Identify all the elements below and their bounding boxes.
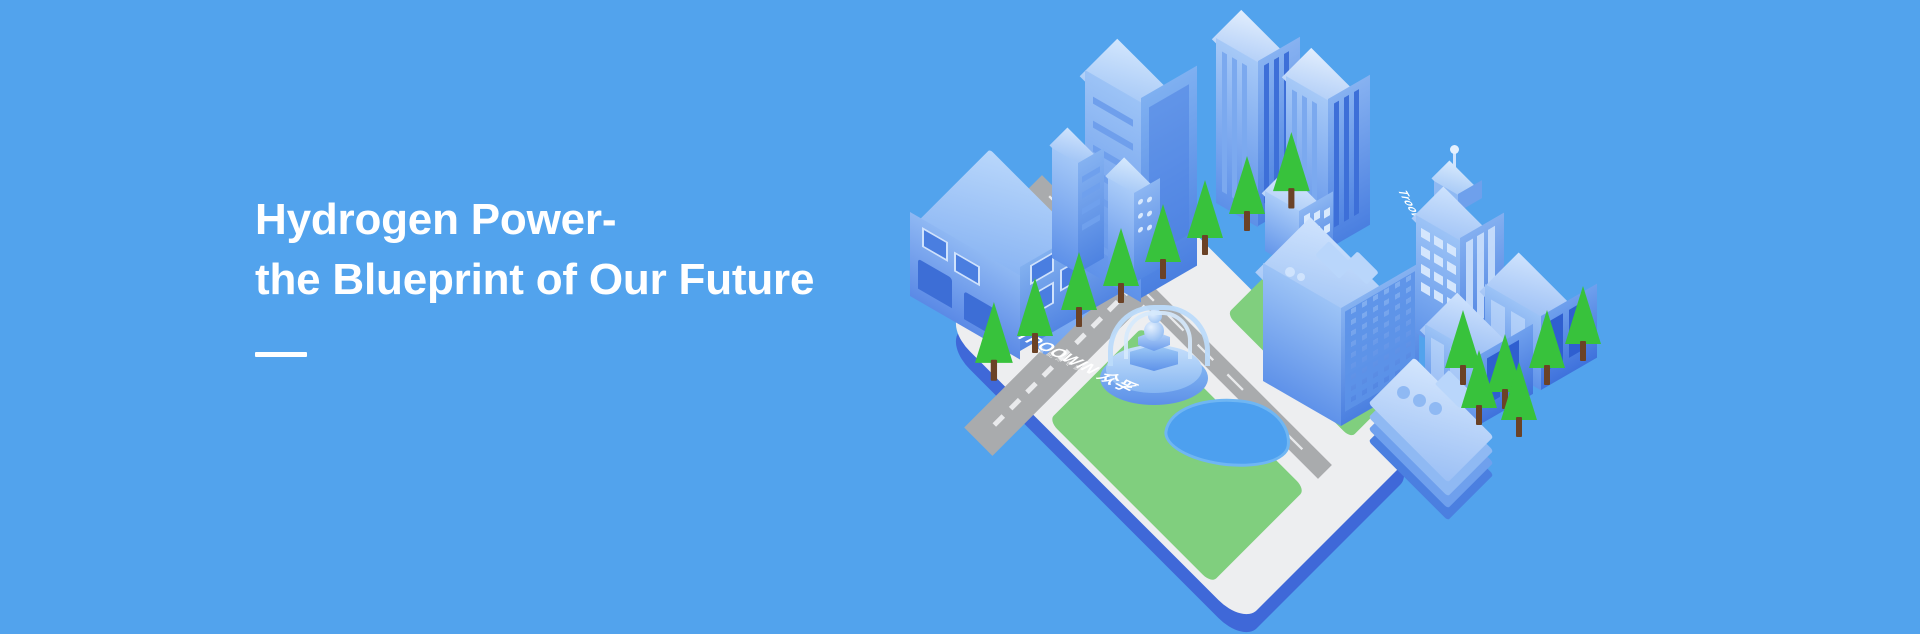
isometric-city-illustration: TROOWIN 众孚 氢能源专家 Troowin R&D Center: [865, 10, 1665, 634]
accent-rule-divider: [255, 352, 307, 357]
hero-banner: Hydrogen Power- the Blueprint of Our Fut…: [0, 0, 1920, 634]
